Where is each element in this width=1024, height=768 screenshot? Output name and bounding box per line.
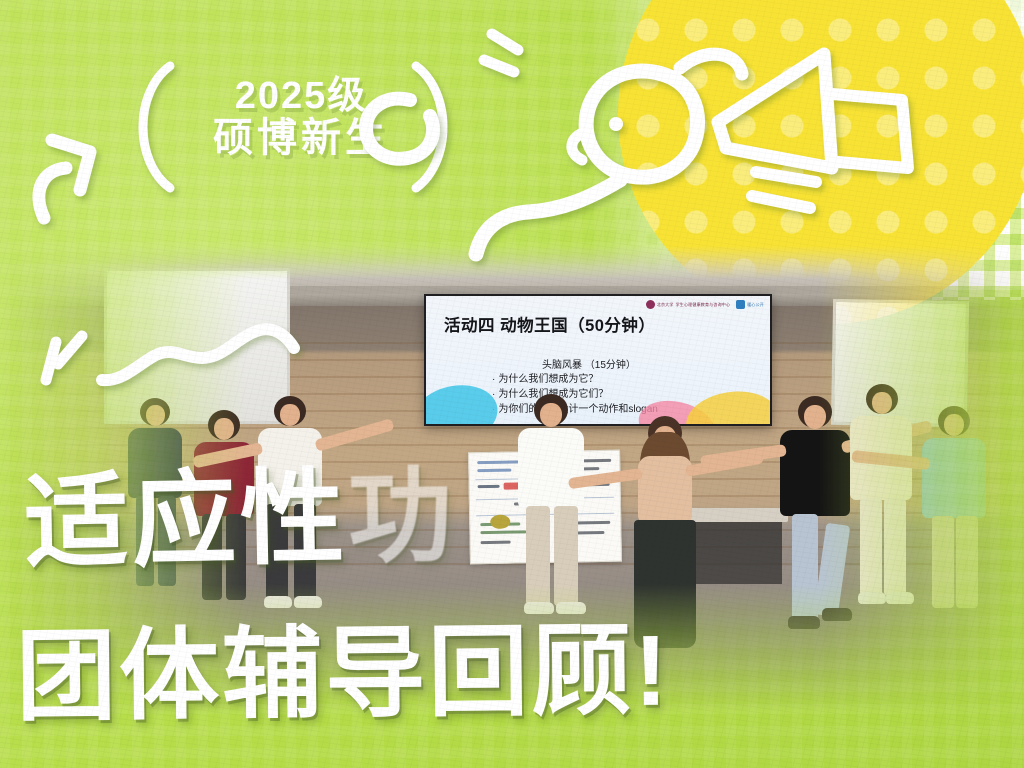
slide-bullet-item: ·为你们的小组设计一个动作和slogan: [492, 402, 658, 417]
slide-bullet-list: ·为什么我们想成为它？ ·为什么我们想成为它们？ ·为你们的小组设计一个动作和s…: [492, 372, 658, 417]
zigzag-line-icon: [98, 322, 298, 392]
person-with-megaphone-icon: [470, 16, 1010, 276]
logo-label-2: 暖心公开: [747, 302, 764, 308]
logo-sublabel-1: 学生心理健康教育与咨询中心: [676, 302, 731, 308]
poster-canvas: 北京大学 学生心理健康教育与咨询中心 暖心公开 活动四 动物王国（50分钟） 头…: [0, 0, 1024, 768]
sparkle-marks-icon: [34, 330, 104, 394]
logo-label-1: 北京大学: [657, 302, 674, 308]
headline-line-2: 团体辅导回顾!: [15, 589, 671, 741]
platform-icon: [736, 300, 745, 309]
projector-slide: 北京大学 学生心理健康教育与咨询中心 暖心公开 活动四 动物王国（50分钟） 头…: [426, 296, 770, 424]
curved-arrow-up-right-icon: [26, 112, 136, 222]
logo-counseling-platform: 暖心公开: [736, 300, 764, 309]
slide-title: 活动四 动物王国（50分钟）: [444, 312, 655, 336]
headline-line-1-faded: 功: [347, 458, 457, 576]
seal-icon: [646, 300, 655, 309]
slide-logos: 北京大学 学生心理健康教育与咨询中心 暖心公开: [646, 300, 764, 309]
bullet-text: 为你们的小组设计一个动作和slogan: [498, 404, 657, 415]
bullet-text: 为什么我们想成为它？: [498, 374, 598, 385]
turtle-drawing: [490, 515, 510, 529]
slide-bullet-item: ·为什么我们想成为它们？: [492, 387, 658, 402]
slide-subtitle: 头脑风暴 （15分钟）: [542, 356, 636, 371]
bracket-left-icon: [124, 62, 180, 192]
headline-line-1: 适应性功: [23, 430, 458, 589]
bullet-marker: ·: [492, 374, 495, 385]
slide-bullet-item: ·为什么我们想成为它？: [492, 372, 658, 387]
headline-line-1-main: 适应性: [23, 460, 349, 582]
slide-decoration-yellow: [683, 386, 770, 424]
logo-peking-university: 北京大学 学生心理健康教育与咨询中心: [646, 300, 730, 309]
projector-screen-frame: 北京大学 学生心理健康教育与咨询中心 暖心公开 活动四 动物王国（50分钟） 头…: [424, 294, 772, 426]
